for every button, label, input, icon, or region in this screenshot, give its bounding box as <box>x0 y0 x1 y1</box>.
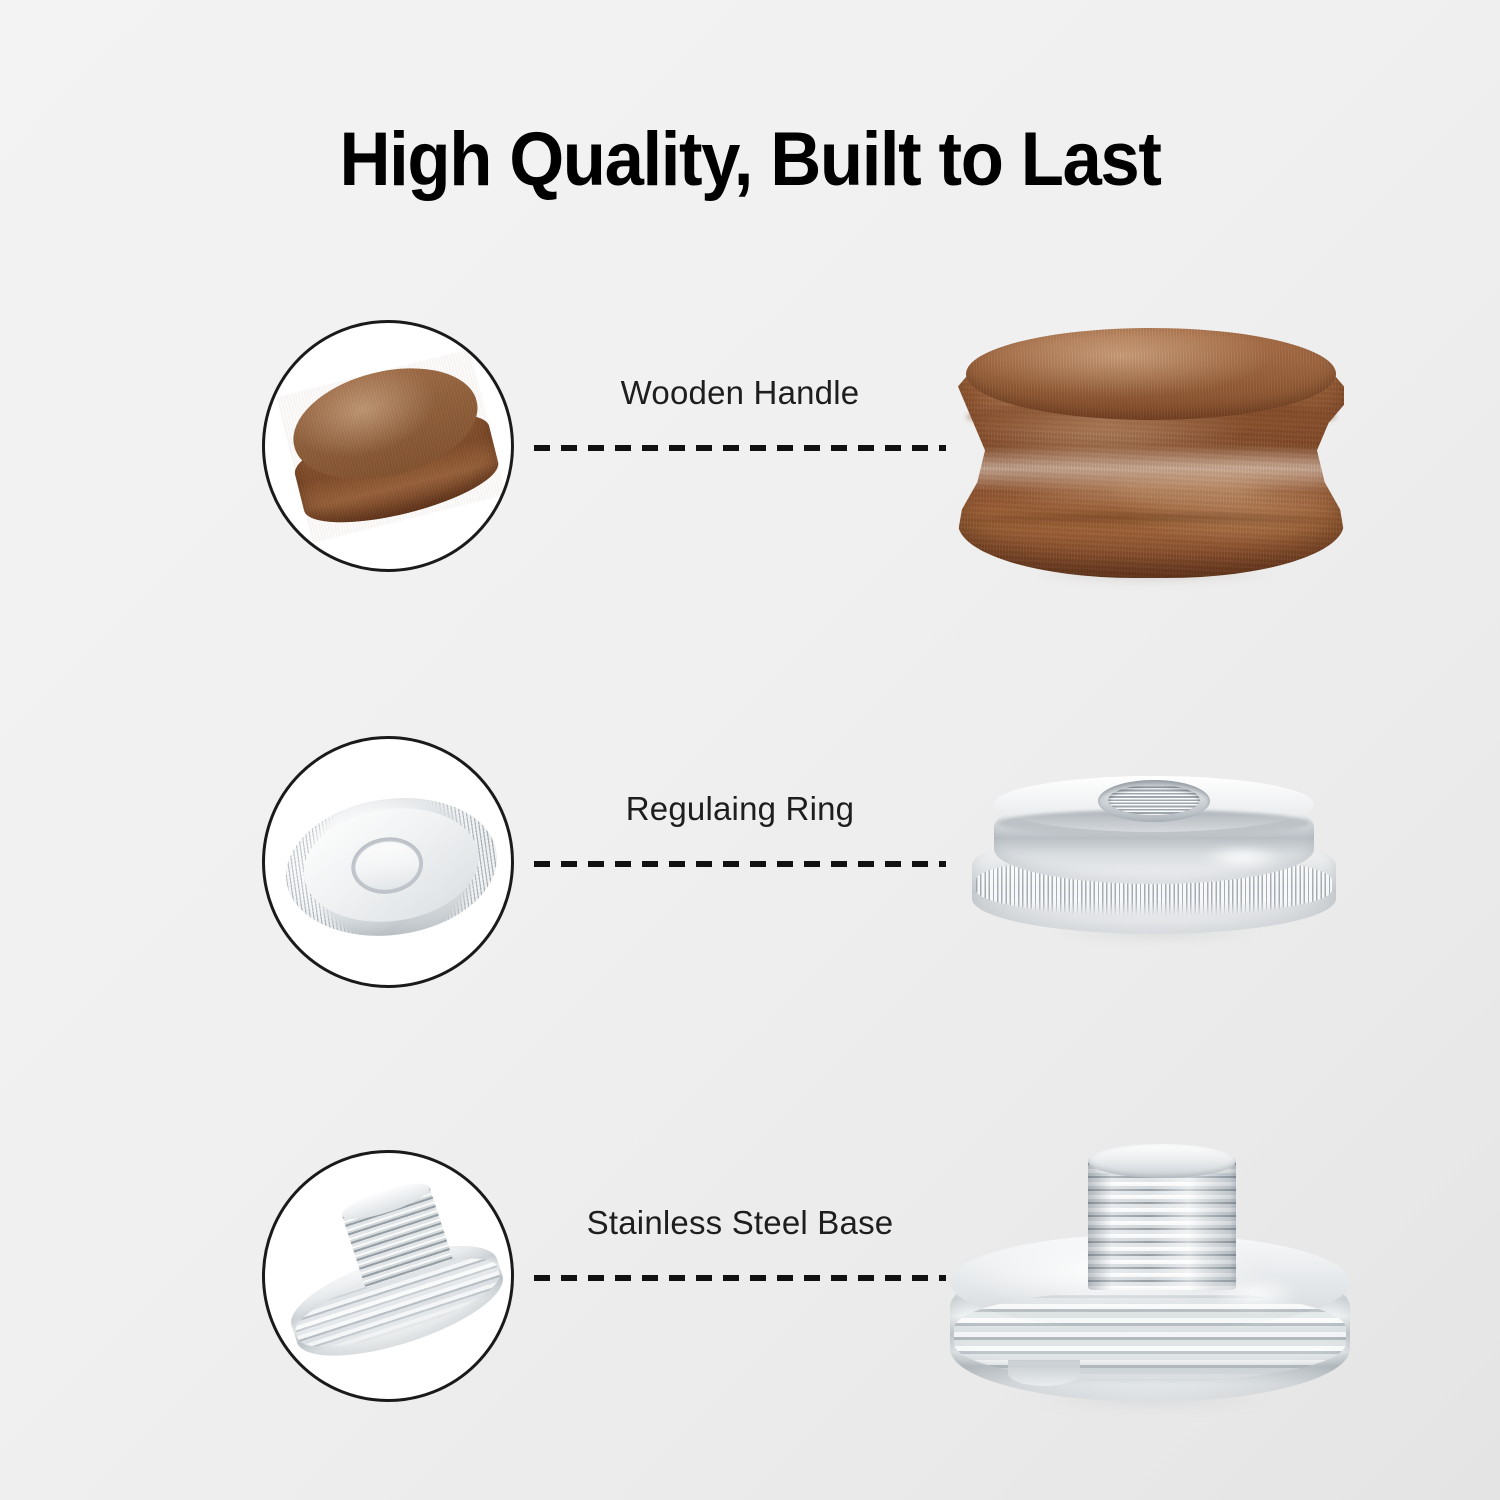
base-specular-highlight <box>1190 1272 1320 1316</box>
regulating-ring-hero <box>930 706 1380 1026</box>
feature-label-wooden-handle: Wooden Handle <box>530 374 950 412</box>
wooden-handle-thumbnail <box>262 320 514 572</box>
feature-row-regulating-ring: Regulaing Ring <box>0 706 1500 1026</box>
base-notch-cutout <box>1008 1360 1080 1386</box>
handle-waist-highlight <box>980 470 1320 510</box>
thumbnail-clip <box>265 739 511 985</box>
connector-dashed-line <box>534 445 946 451</box>
stainless-steel-base-hero <box>930 1120 1380 1440</box>
feature-row-stainless-steel-base: Stainless Steel Base <box>0 1120 1500 1440</box>
regulating-ring-thumbnail-icon <box>274 767 507 961</box>
wooden-handle-illustration <box>958 328 1344 578</box>
page-title: High Quality, Built to Last <box>53 116 1448 203</box>
connector-dashed-line <box>534 1275 946 1281</box>
handle-lower-band <box>964 514 1338 528</box>
regulating-ring-thumbnail <box>262 736 514 988</box>
wood-grain-texture-top <box>966 328 1336 420</box>
stainless-steel-base-illustration <box>950 1142 1350 1422</box>
ring-specular-highlight <box>1182 840 1302 874</box>
wooden-handle-thumbnail-icon <box>276 349 506 543</box>
handle-top-surface <box>966 328 1336 420</box>
ring-center-hole-threads <box>1108 785 1200 815</box>
wooden-handle-hero <box>930 290 1380 610</box>
connector-dashed-line <box>534 861 946 867</box>
thumbnail-clip <box>265 1153 511 1399</box>
feature-label-stainless-steel-base: Stainless Steel Base <box>530 1204 950 1242</box>
regulating-ring-illustration <box>972 758 1336 948</box>
feature-row-wooden-handle: Wooden Handle <box>0 290 1500 610</box>
base-post-top-face <box>1088 1144 1236 1178</box>
feature-label-regulating-ring: Regulaing Ring <box>530 790 950 828</box>
stainless-steel-base-thumbnail-icon <box>265 1171 511 1380</box>
stainless-steel-base-thumbnail <box>262 1150 514 1402</box>
thumbnail-clip <box>265 323 511 569</box>
product-feature-infographic: High Quality, Built to Last Wooden Handl… <box>0 0 1500 1500</box>
wood-grain-texture <box>276 349 506 543</box>
